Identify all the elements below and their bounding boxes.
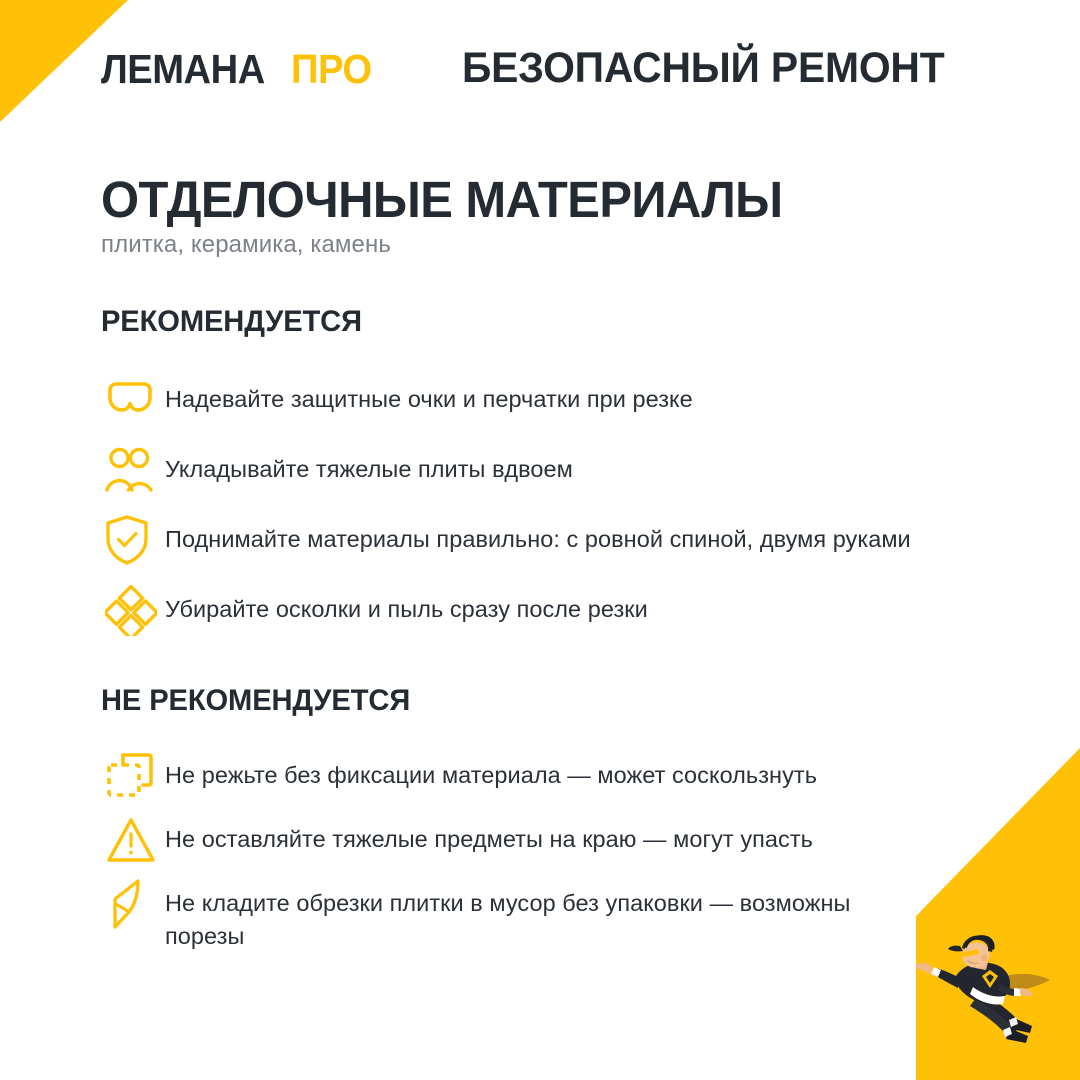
list-item-text: Надевайте защитные очки и перчатки при р…	[165, 374, 925, 416]
list-item-text: Не кладите обрезки плитки в мусор без уп…	[165, 878, 925, 953]
list-item-text: Не режьте без фиксации материала — может…	[165, 750, 925, 792]
knife-blade-icon	[101, 878, 165, 930]
poster-canvas: ЛЕМАНА ПРО БЕЗОПАСНЫЙ РЕМОНТ ОТДЕЛОЧНЫЕ …	[0, 0, 1080, 1080]
brand-logo: ЛЕМАНА ПРО	[101, 46, 378, 93]
list-item: Не режьте без фиксации материала — может…	[101, 750, 981, 802]
section-heading-not-recommended: НЕ РЕКОМЕНДУЕТСЯ	[101, 684, 410, 718]
poster-header: ЛЕМАНА ПРО БЕЗОПАСНЫЙ РЕМОНТ	[0, 0, 1080, 140]
logo-lemana-text: ЛЕМАНА	[101, 46, 265, 93]
safety-goggles-icon	[101, 374, 165, 426]
shield-check-icon	[101, 514, 165, 566]
warning-triangle-icon	[101, 814, 165, 866]
two-people-icon	[101, 444, 165, 496]
list-item-text: Укладывайте тяжелые плиты вдвоем	[165, 444, 925, 486]
list-item-text: Убирайте осколки и пыль сразу после резк…	[165, 584, 925, 626]
logo-pro-text: ПРО	[291, 46, 372, 93]
list-item: Не оставляйте тяжелые предметы на краю —…	[101, 814, 981, 866]
list-item: Укладывайте тяжелые плиты вдвоем	[101, 444, 981, 496]
list-item-text: Поднимайте материалы правильно: с ровной…	[165, 514, 925, 556]
page-title: ОТДЕЛОЧНЫЕ МАТЕРИАЛЫ	[101, 170, 783, 229]
campaign-title: БЕЗОПАСНЫЙ РЕМОНТ	[462, 44, 945, 93]
list-item: Надевайте защитные очки и перчатки при р…	[101, 374, 981, 426]
section-heading-recommended: РЕКОМЕНДУЕТСЯ	[101, 305, 362, 339]
flying-superhero-mascot-illustration	[910, 932, 1060, 1052]
unfixed-material-frame-icon	[101, 750, 165, 802]
list-item: Убирайте осколки и пыль сразу после резк…	[101, 584, 981, 636]
list-item: Не кладите обрезки плитки в мусор без уп…	[101, 878, 981, 953]
recommended-list: Надевайте защитные очки и перчатки при р…	[101, 374, 981, 654]
list-item-text: Не оставляйте тяжелые предметы на краю —…	[165, 814, 925, 856]
page-subtitle: плитка, керамика, камень	[101, 231, 391, 259]
list-item: Поднимайте материалы правильно: с ровной…	[101, 514, 981, 566]
not-recommended-list: Не режьте без фиксации материала — может…	[101, 750, 981, 965]
four-diamonds-tiles-icon	[101, 584, 165, 636]
